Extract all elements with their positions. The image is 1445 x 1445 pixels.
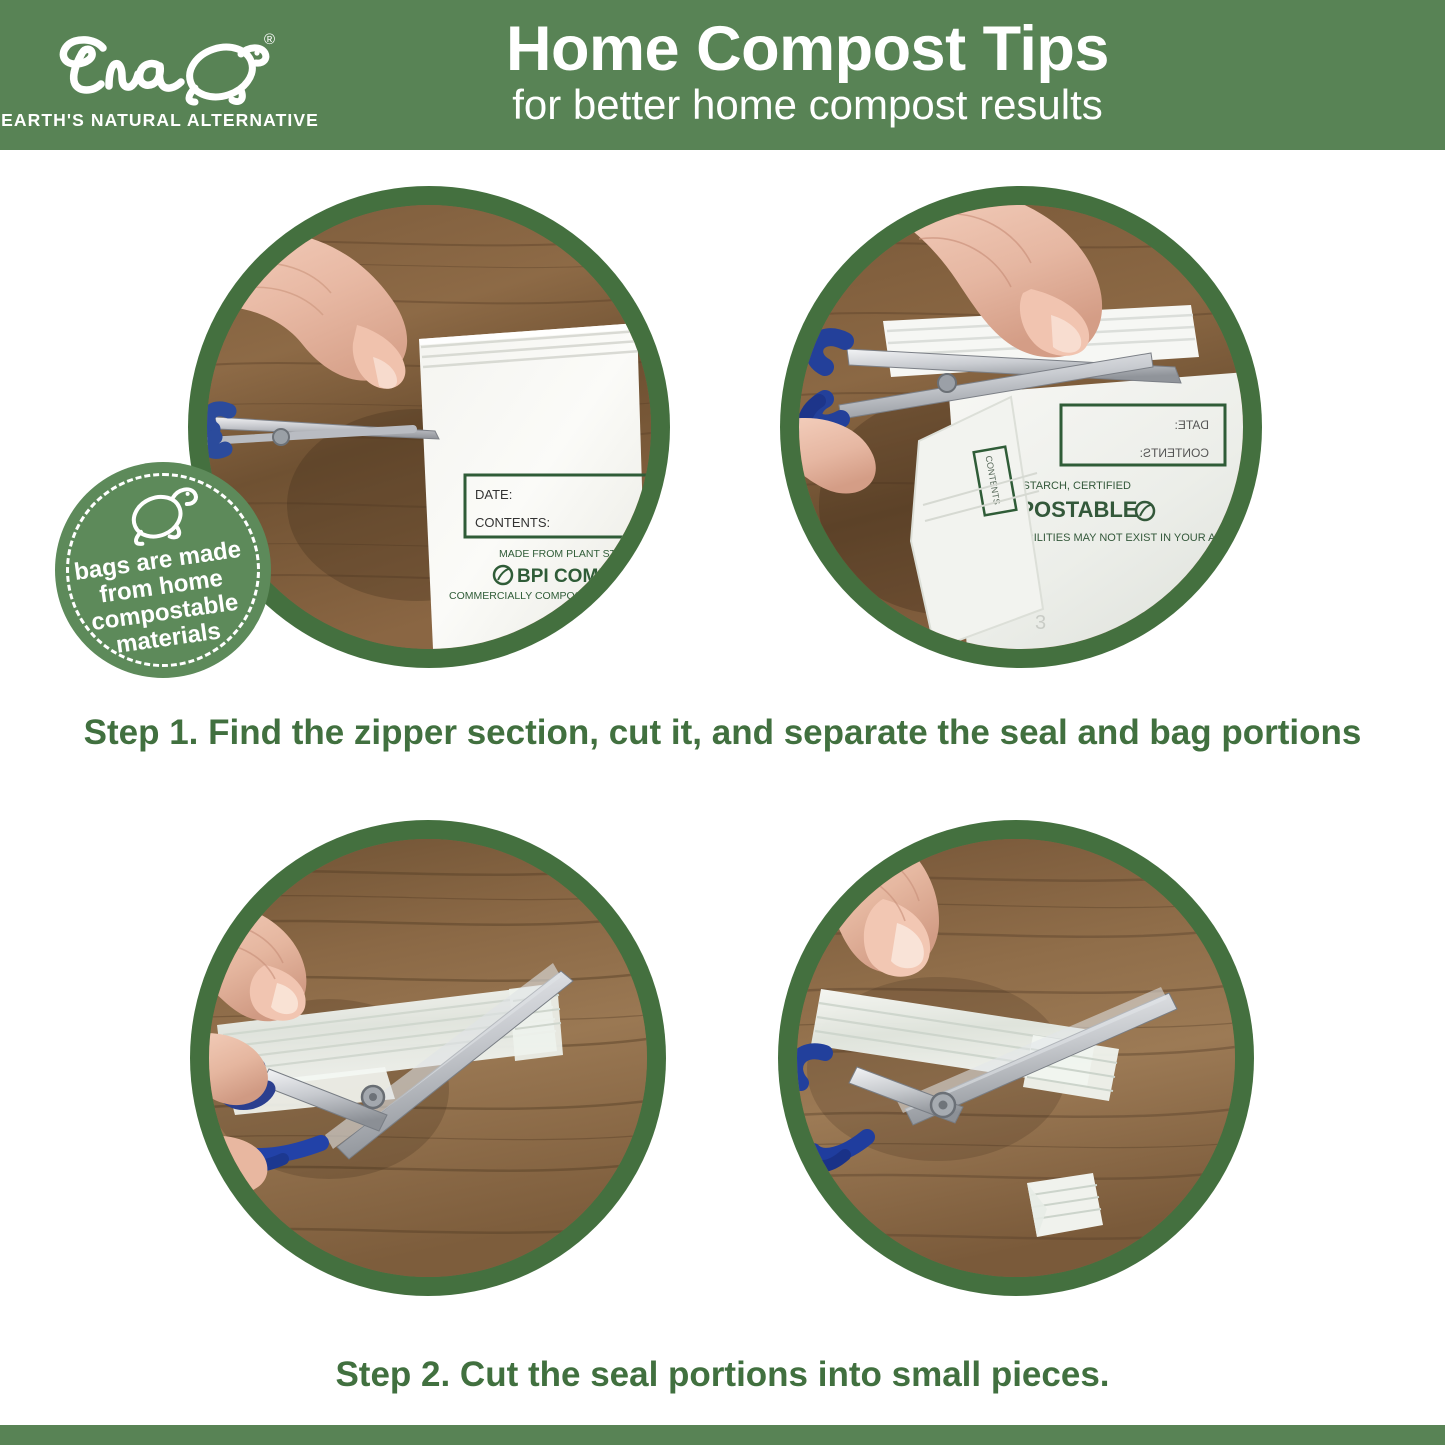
panel-4-photo: [778, 820, 1254, 1296]
panel-1-image: DATE: CONTENTS: MADE FROM PLANT STARCH, …: [207, 205, 651, 649]
svg-text:3: 3: [1035, 612, 1046, 634]
turtle-icon: [118, 479, 209, 551]
svg-text:MADE FROM PLANT STARCH, CER: MADE FROM PLANT STARCH, CER: [499, 548, 651, 560]
panel-2-photo: DATE: CONTENTS: NT STARCH, CERTIFIED MPO…: [780, 186, 1262, 668]
logo-wordmark-turtle: ®: [35, 26, 285, 108]
panel-4-image: [797, 839, 1235, 1277]
svg-text:DATE:: DATE:: [475, 487, 512, 502]
home-compostable-badge: bags are made from home compostable mate…: [55, 462, 271, 678]
svg-text:CONTENTS:: CONTENTS:: [1140, 446, 1209, 460]
step-2-caption: Step 2. Cut the seal portions into small…: [0, 1355, 1445, 1395]
registered-trademark-icon: ®: [264, 32, 275, 47]
step-1-caption: Step 1. Find the zipper section, cut it,…: [0, 713, 1445, 753]
panel-3-image: [209, 839, 647, 1277]
svg-text:CONTENTS:: CONTENTS:: [475, 515, 550, 530]
page-header: ® EARTH'S NATURAL ALTERNATIVE Home Compo…: [0, 0, 1445, 150]
page-subtitle: for better home compost results: [512, 83, 1103, 127]
panel-3-photo: [190, 820, 666, 1296]
svg-text:COMMERCIALLY COMPOSTABLE ONLY.: COMMERCIALLY COMPOSTABLE ONLY. FACILITIE…: [449, 590, 651, 602]
logo-tagline: EARTH'S NATURAL ALTERNATIVE: [1, 110, 319, 131]
panel-2-image: DATE: CONTENTS: NT STARCH, CERTIFIED MPO…: [799, 205, 1243, 649]
footer-band: [0, 1425, 1445, 1445]
page-title: Home Compost Tips: [506, 18, 1109, 81]
brand-logo: ® EARTH'S NATURAL ALTERNATIVE: [0, 0, 320, 150]
header-title-block: Home Compost Tips for better home compos…: [320, 18, 1445, 131]
svg-text:BPI COMPOST: BPI COMPOST: [517, 566, 650, 587]
svg-text:DATE:: DATE:: [1175, 418, 1209, 432]
